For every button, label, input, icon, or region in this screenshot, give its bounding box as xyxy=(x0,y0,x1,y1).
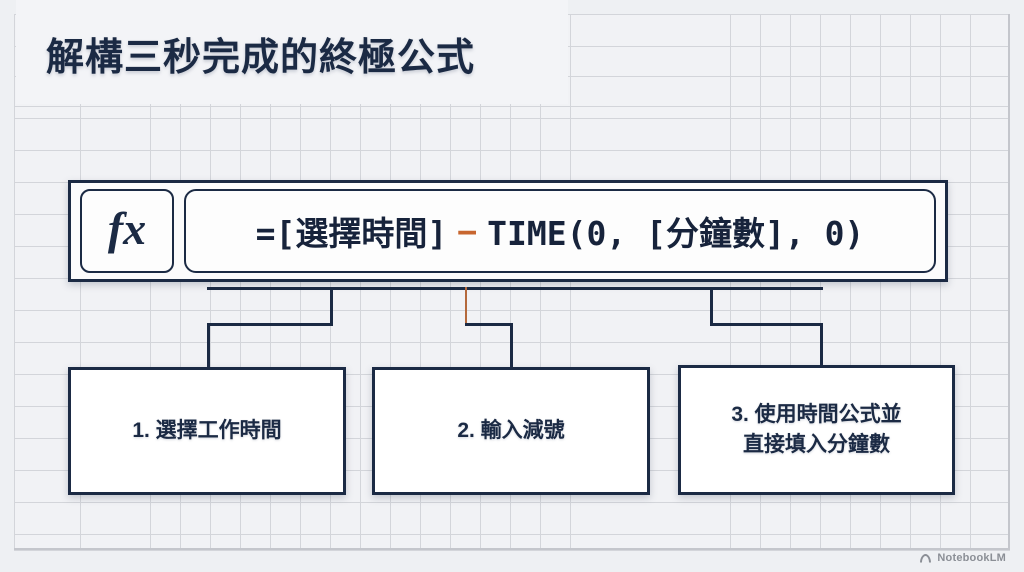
step-box-1[interactable]: 1. 選擇工作時間 xyxy=(68,367,346,495)
formula-text: =[選擇時間] − TIME(0, [分鐘數], 0) xyxy=(256,207,865,255)
slide-canvas: 解構三秒完成的終極公式 fx =[選擇時間] − TIME(0, [分鐘數], … xyxy=(0,0,1024,572)
connector-left-drop xyxy=(330,287,333,325)
connector-middle-orange-drop xyxy=(465,287,467,325)
step-3-line-1: 3. 使用時間公式並 xyxy=(731,403,901,426)
connector-bus-horizontal xyxy=(207,287,823,290)
connector-middle-horizontal xyxy=(465,323,513,326)
step-box-3[interactable]: 3. 使用時間公式並 直接填入分鐘數 xyxy=(678,365,955,495)
connector-right-horizontal xyxy=(710,323,823,326)
step-3-line-2: 直接填入分鐘數 xyxy=(743,433,890,456)
connector-middle-into-box xyxy=(510,323,513,367)
step-2-label: 2. 輸入減號 xyxy=(445,416,576,446)
step-box-2[interactable]: 2. 輸入減號 xyxy=(372,367,650,495)
watermark: NotebookLM xyxy=(919,552,1006,564)
connector-left-horizontal xyxy=(207,323,333,326)
connector-left-into-box xyxy=(207,323,210,367)
formula-input[interactable]: =[選擇時間] − TIME(0, [分鐘數], 0) xyxy=(184,189,936,273)
watermark-label: NotebookLM xyxy=(937,552,1006,564)
notebooklm-logo-icon xyxy=(919,552,932,564)
page-title: 解構三秒完成的終極公式 xyxy=(46,26,475,81)
grid-bottom-edge xyxy=(14,548,1010,550)
step-1-label: 1. 選擇工作時間 xyxy=(120,416,293,446)
fx-icon[interactable]: fx xyxy=(80,189,174,273)
formula-prefix: =[選擇時間] xyxy=(256,207,448,255)
formula-bar[interactable]: fx =[選擇時間] − TIME(0, [分鐘數], 0) xyxy=(68,180,948,282)
step-3-label: 3. 使用時間公式並 直接填入分鐘數 xyxy=(719,400,913,460)
grid-right-edge xyxy=(1008,14,1010,550)
formula-suffix: TIME(0, [分鐘數], 0) xyxy=(487,207,864,255)
fx-icon-glyph: fx xyxy=(108,206,146,256)
connector-right-into-box xyxy=(820,323,823,367)
formula-minus-operator: − xyxy=(447,212,487,251)
connector-right-drop xyxy=(710,287,713,325)
